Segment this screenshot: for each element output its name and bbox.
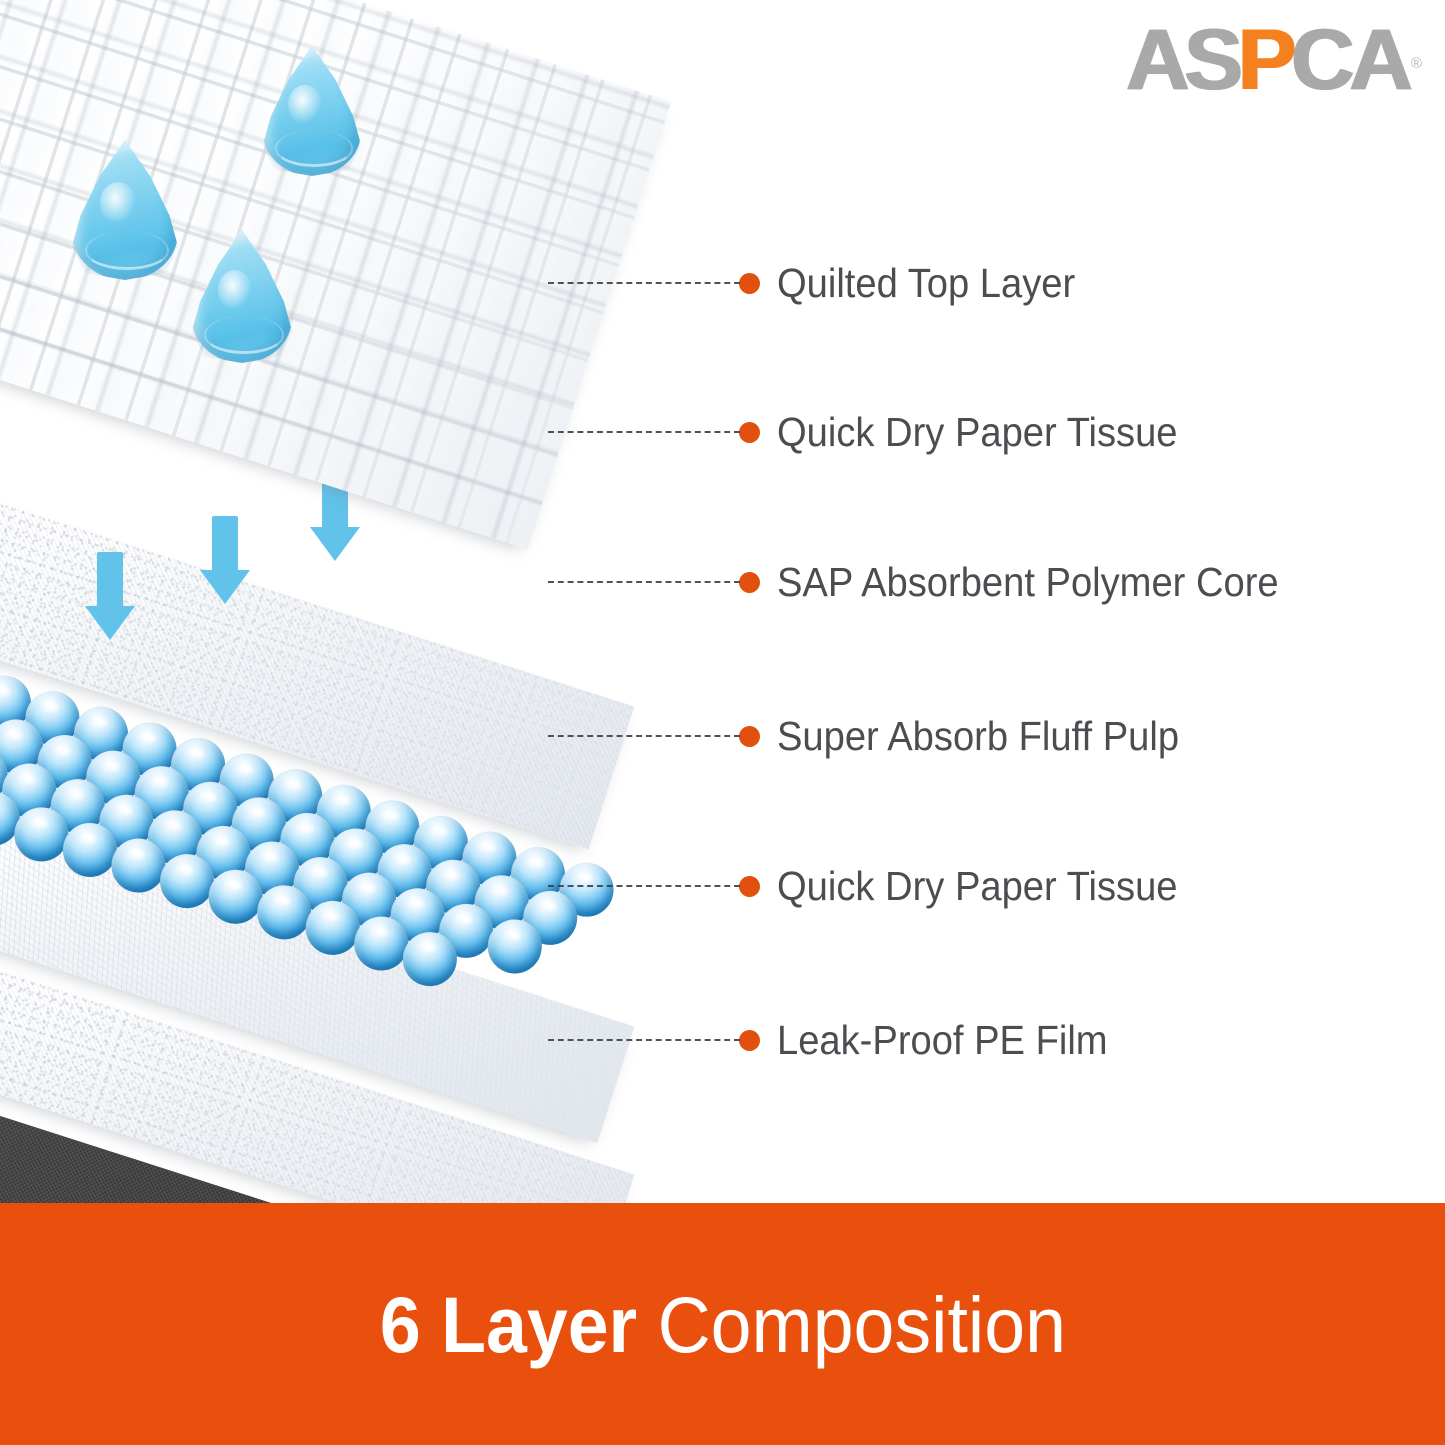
leader-line <box>548 1039 740 1041</box>
leader-line <box>548 581 740 583</box>
bullet-dot-icon <box>739 572 760 593</box>
callout-super-absorb-fluff-pulp: Super Absorb Fluff Pulp <box>548 714 1209 758</box>
footer-headline-strong: 6 Layer <box>379 1280 636 1369</box>
footer-headline-light <box>637 1280 657 1369</box>
callout-quick-dry-paper-tissue-bottom: Quick Dry Paper Tissue <box>548 864 1208 908</box>
registered-trademark-icon: ® <box>1411 55 1422 72</box>
callout-sap-absorbent-polymer-core: SAP Absorbent Polymer Core <box>548 560 1316 604</box>
callout-label: SAP Absorbent Polymer Core <box>777 560 1279 604</box>
logo-text-ca: CA <box>1291 12 1408 108</box>
bullet-dot-icon <box>739 726 760 747</box>
aspca-logo-wordmark: ASPCA® <box>1126 17 1419 103</box>
footer-headline-light-text: Composition <box>657 1280 1065 1369</box>
bullet-dot-icon <box>739 273 760 294</box>
leader-line <box>548 735 740 737</box>
bullet-dot-icon <box>739 1030 760 1051</box>
logo-text-p: P <box>1238 12 1291 108</box>
callout-leak-proof-pe-film: Leak-Proof PE Film <box>548 1018 1132 1062</box>
leader-line <box>548 282 740 284</box>
callout-label: Quick Dry Paper Tissue <box>777 410 1177 454</box>
leader-line <box>548 431 740 433</box>
footer-headline: 6 Layer Composition <box>379 1285 1065 1364</box>
callout-label: Quilted Top Layer <box>777 261 1075 305</box>
footer-banner: 6 Layer Composition <box>0 1203 1445 1445</box>
callout-label: Quick Dry Paper Tissue <box>777 864 1177 908</box>
bullet-dot-icon <box>739 422 760 443</box>
callout-quick-dry-paper-tissue-top: Quick Dry Paper Tissue <box>548 410 1208 454</box>
callout-label: Super Absorb Fluff Pulp <box>777 714 1179 758</box>
infographic-root: ASPCA® Quilted Top Layer Quick Dry Paper… <box>0 0 1445 1445</box>
callout-quilted-top-layer: Quilted Top Layer <box>548 261 1098 305</box>
aspca-logo: ASPCA® <box>1148 14 1416 106</box>
bullet-dot-icon <box>739 876 760 897</box>
absorb-arrow-icon <box>200 516 250 604</box>
absorb-arrow-icon <box>85 552 135 640</box>
logo-text-as: AS <box>1126 12 1238 108</box>
callout-label: Leak-Proof PE Film <box>777 1018 1108 1062</box>
leader-line <box>548 885 740 887</box>
